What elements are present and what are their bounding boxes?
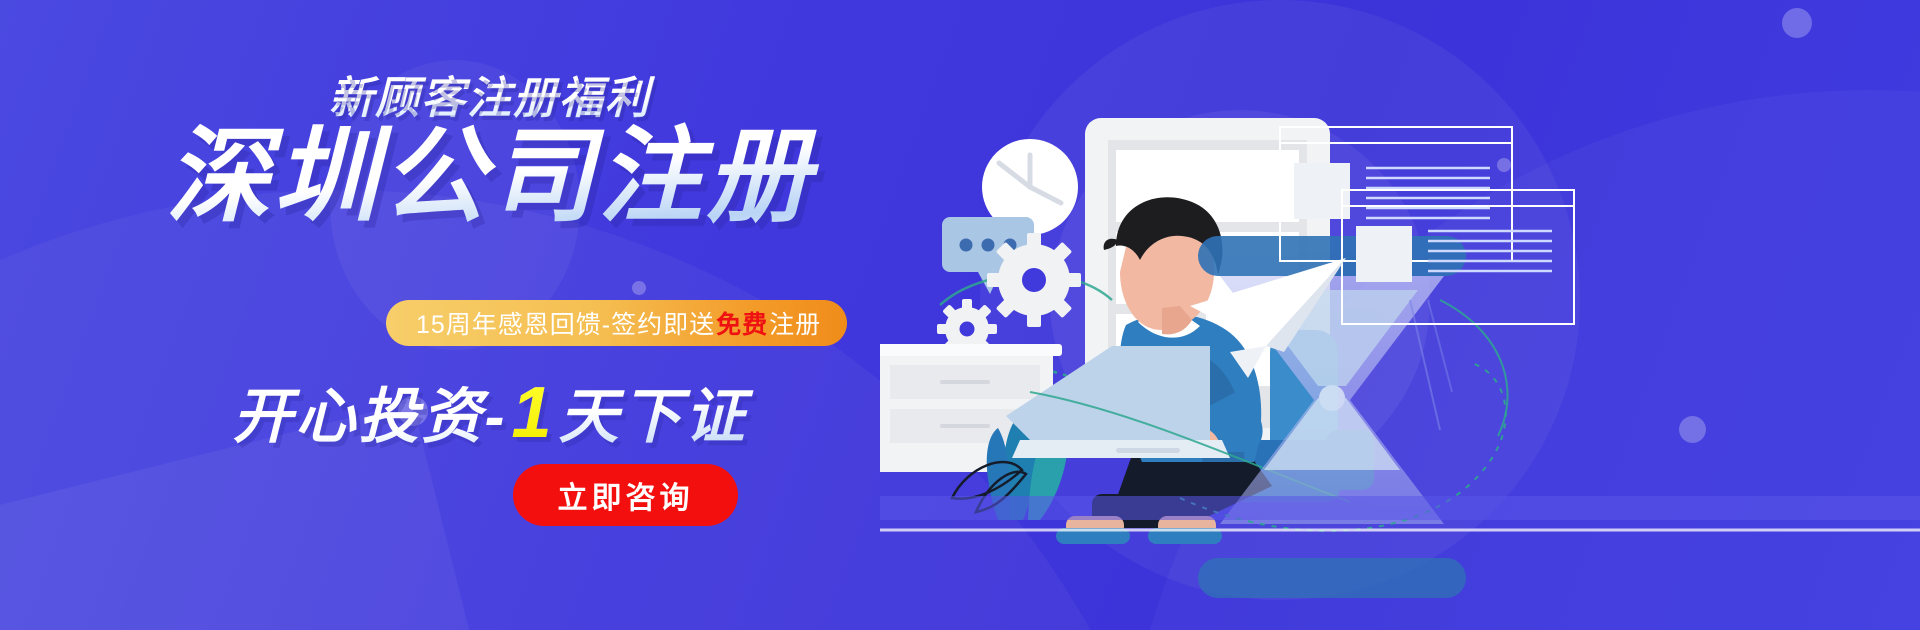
gear-icon [987,233,1081,327]
promo-highlight: 免费 [716,305,768,341]
promo-suffix: 注册 [769,305,821,341]
consult-now-button[interactable]: 立即咨询 [513,464,738,526]
subheadline-suffix: 天下证 [559,383,748,450]
hero-illustration [880,0,1920,630]
eyebrow-text: 新顾客注册福利 [0,62,980,126]
subheadline-prefix: 开心投资- [232,383,507,450]
page-title: 深圳公司注册 [0,118,980,238]
subheadline-highlight: 1 [507,373,558,453]
copy-block: 新顾客注册福利 深圳公司注册 15周年感恩回馈-签约即送 免费 注册 开心投资-… [0,0,980,630]
promo-banner: 新顾客注册福利 深圳公司注册 15周年感恩回馈-签约即送 免费 注册 开心投资-… [0,0,1920,630]
promo-pill: 15周年感恩回馈-签约即送 免费 注册 [386,300,847,346]
subheadline: 开心投资-1天下证 [0,368,980,455]
promo-prefix: 15周年感恩回馈-签约即送 [416,305,715,341]
hourglass-cap-bottom [1198,558,1466,598]
